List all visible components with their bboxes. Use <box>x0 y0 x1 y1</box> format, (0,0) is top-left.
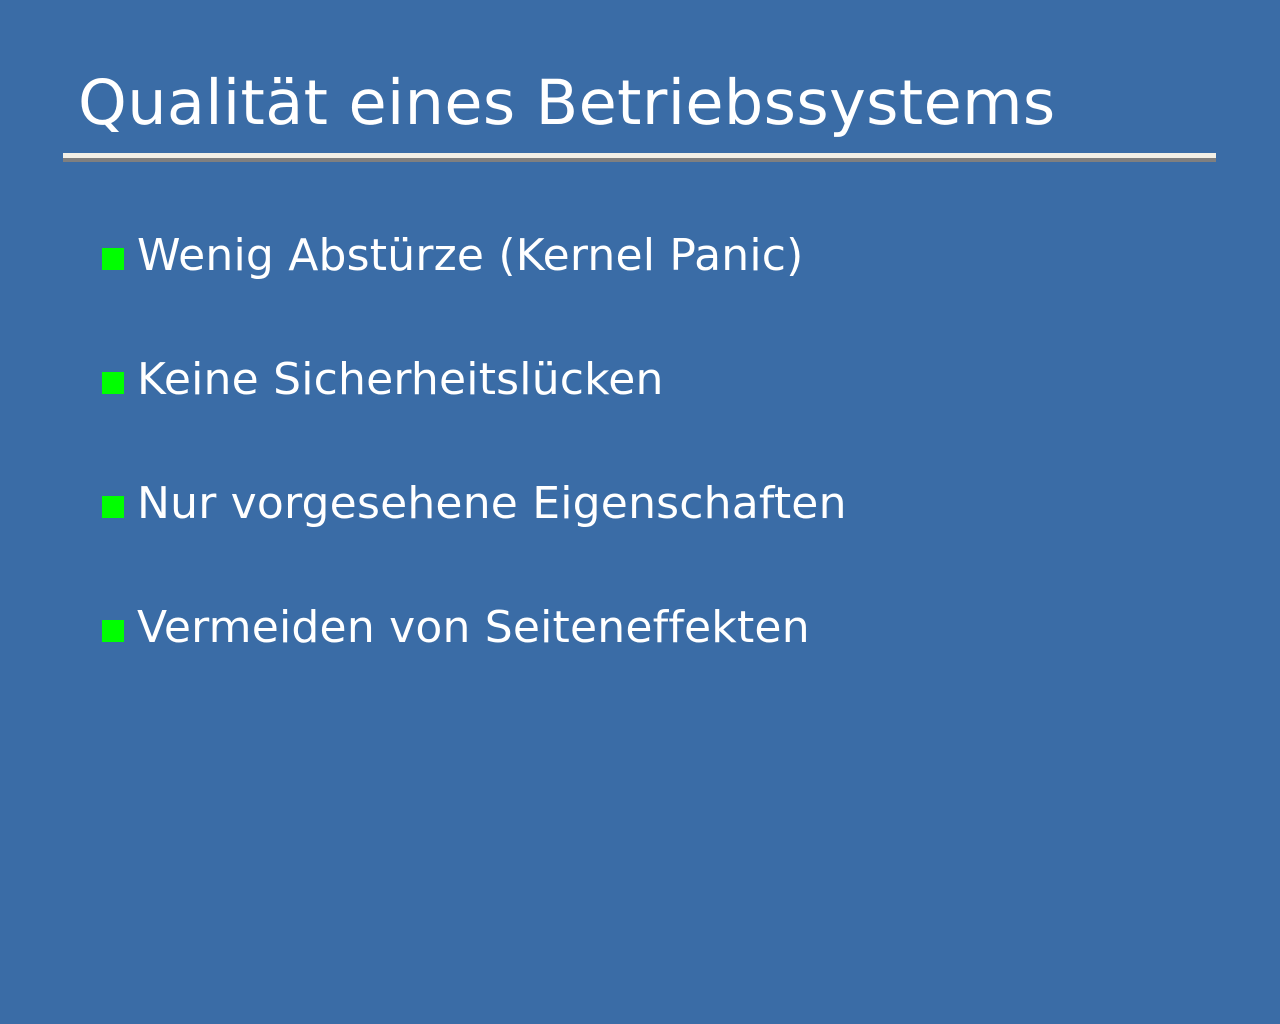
slide-title: Qualität eines Betriebssystems <box>78 66 1228 140</box>
bullet-item-label: Nur vorgesehene Eigenschaften <box>137 476 847 532</box>
list-item: Wenig Abstürze (Kernel Panic) <box>102 228 1222 352</box>
title-underline-rule <box>63 153 1216 162</box>
bullet-list: Wenig Abstürze (Kernel Panic) Keine Sich… <box>102 228 1222 724</box>
list-item: Nur vorgesehene Eigenschaften <box>102 476 1222 600</box>
list-item: Keine Sicherheitslücken <box>102 352 1222 476</box>
bullet-item-label: Keine Sicherheitslücken <box>137 352 664 408</box>
bullet-item-label: Wenig Abstürze (Kernel Panic) <box>137 228 804 284</box>
green-square-bullet-icon <box>102 248 124 270</box>
green-square-bullet-icon <box>102 620 124 642</box>
green-square-bullet-icon <box>102 496 124 518</box>
bullet-item-label: Vermeiden von Seiteneffekten <box>137 600 810 656</box>
presentation-slide: Qualität eines Betriebssystems Wenig Abs… <box>0 0 1280 1024</box>
green-square-bullet-icon <box>102 372 124 394</box>
list-item: Vermeiden von Seiteneffekten <box>102 600 1222 724</box>
title-rule-shadow <box>63 158 1216 162</box>
